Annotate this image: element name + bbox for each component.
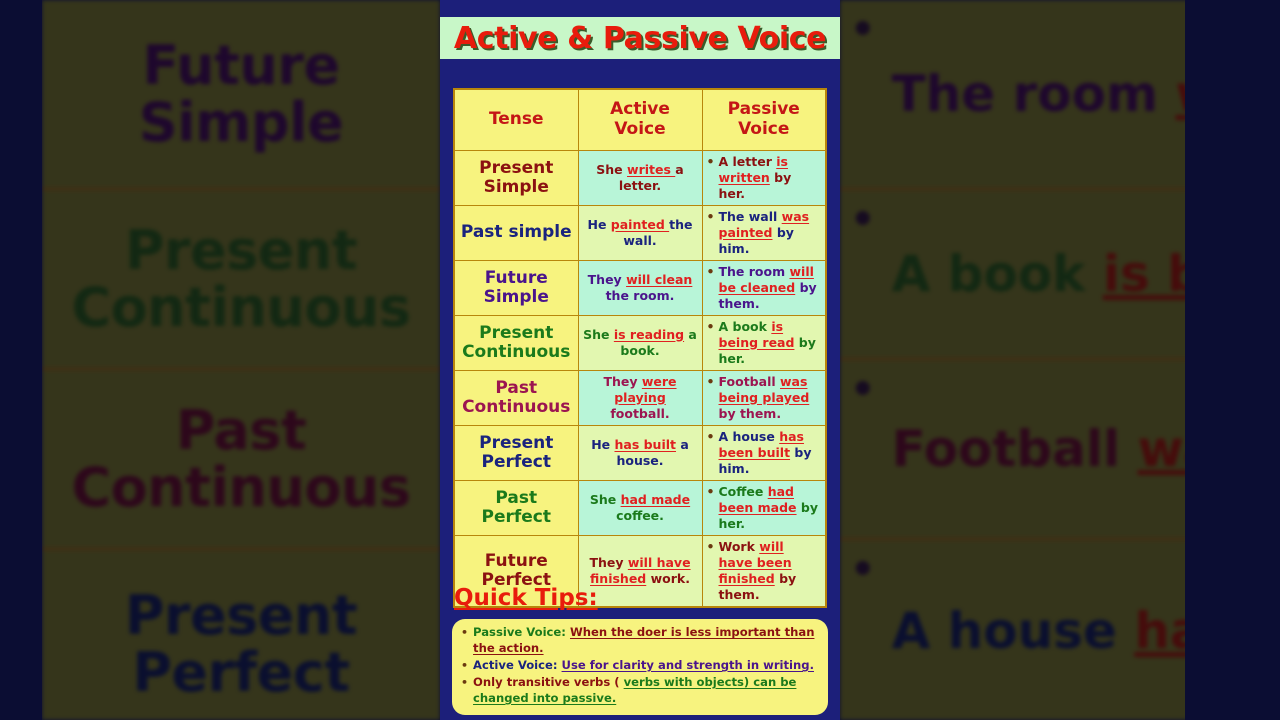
sentence-pre: Football [719, 374, 781, 389]
sentence-post: football. [610, 406, 669, 421]
table-row: Past ContinuousThey were playing footbal… [454, 370, 826, 425]
table-body: Present SimpleShe writes a letter.•A let… [454, 150, 826, 607]
quick-tip-text: Active Voice: Use for clarity and streng… [473, 658, 814, 674]
tense-cell: Past Continuous [454, 370, 578, 425]
tense-cell: Past simple [454, 205, 578, 260]
verb-phrase: will clean [626, 272, 692, 287]
bullet-icon: • [707, 429, 715, 477]
sentence-pre: A book [719, 319, 772, 334]
passive-voice-cell: •Coffee had been made by her. [702, 480, 826, 535]
quick-tip-label: Passive Voice: [473, 625, 566, 639]
sentence-pre: The room [892, 65, 1176, 123]
tense-cell: Present Continuous [454, 315, 578, 370]
passive-sentence: Football was being played by them. [719, 374, 822, 422]
bullet-icon: • [707, 154, 715, 202]
tense-cell: Present Perfect [454, 425, 578, 480]
passive-voice-cell: •The room will be cleaned by them. [702, 260, 826, 315]
background-tense-label: PresentContinuous [42, 190, 440, 370]
bullet-icon: • [707, 319, 715, 367]
passive-sentence: A house has been built by him. [719, 429, 822, 477]
right-edge-mask [1185, 0, 1280, 720]
verb-phrase: had made [621, 492, 691, 507]
active-voice-cell: She had made coffee. [578, 480, 702, 535]
bullet-icon: • [707, 539, 715, 603]
passive-sentence: The room will be cleaned by them. [719, 264, 822, 312]
sentence-pre: A house [892, 602, 1135, 660]
quick-tip-item: •Active Voice: Use for clarity and stren… [461, 658, 819, 674]
passive-sentence: A letter is written by her. [719, 154, 822, 202]
active-voice-cell: She is reading a book. [578, 315, 702, 370]
screenshot-root: FutureSimplePresentContinuousPastContinu… [0, 0, 1280, 720]
quick-tips-box: •Passive Voice: When the doer is less im… [452, 619, 828, 715]
page-title: Active & Passive Voice [454, 21, 826, 56]
table-row: Past PerfectShe had made coffee.•Coffee … [454, 480, 826, 535]
bullet-icon: • [850, 540, 876, 600]
verb-phrase: has built [614, 437, 676, 452]
bullet-icon: • [850, 0, 876, 60]
quick-tip-text: Passive Voice: When the doer is less imp… [473, 625, 819, 657]
sentence-pre: The wall [719, 209, 782, 224]
column-header-passive: Passive Voice [702, 89, 826, 150]
sentence-pre: She [596, 162, 627, 177]
passive-sentence: Work will have been finished by them. [719, 539, 822, 603]
bullet-icon: • [850, 190, 876, 250]
passive-sentence: The wall was painted by him. [719, 209, 822, 257]
active-voice-cell: They were playing football. [578, 370, 702, 425]
bullet-icon: • [707, 264, 715, 312]
background-word: Perfect [132, 644, 349, 701]
background-word: Past [176, 402, 307, 459]
passive-sentence: Coffee had been made by her. [719, 484, 822, 532]
table-row: Past simpleHe painted the wall.•The wall… [454, 205, 826, 260]
bullet-icon: • [707, 209, 715, 257]
tense-cell: Future Simple [454, 260, 578, 315]
sentence-post: the room. [606, 288, 675, 303]
background-word: Future [142, 37, 339, 94]
left-edge-mask [0, 0, 42, 720]
sentence-pre: A letter [719, 154, 777, 169]
passive-voice-cell: •The wall was painted by him. [702, 205, 826, 260]
verb-phrase: is reading [614, 327, 684, 342]
tense-cell: Past Perfect [454, 480, 578, 535]
verb-phrase: painted [611, 217, 669, 232]
passive-voice-cell: •Work will have been finished by them. [702, 535, 826, 607]
column-header-active: Active Voice [578, 89, 702, 150]
quick-tip-detail: Use for clarity and strength in writing. [562, 658, 814, 672]
background-word: Continuous [71, 279, 410, 336]
quick-tip-text: Only transitive verbs ( verbs with objec… [473, 675, 819, 707]
sentence-pre: Coffee [719, 484, 768, 499]
active-voice-cell: He has built a house. [578, 425, 702, 480]
sentence-pre: They [588, 272, 626, 287]
sentence-pre: Work [719, 539, 760, 554]
bullet-icon: • [850, 360, 876, 420]
sentence-post: work. [646, 571, 690, 586]
quick-tips-heading: Quick Tips: [454, 585, 598, 611]
bullet-icon: • [461, 625, 468, 657]
active-voice-cell: She writes a letter. [578, 150, 702, 205]
sentence-post: by them. [719, 406, 782, 421]
sentence-pre: He [591, 437, 614, 452]
passive-voice-cell: •A house has been built by him. [702, 425, 826, 480]
active-voice-cell: They will clean the room. [578, 260, 702, 315]
sentence-pre: A book [892, 245, 1103, 303]
main-card: Active & Passive Voice Tense Active Voic… [440, 0, 840, 720]
voice-table: Tense Active Voice Passive Voice Present… [453, 88, 827, 608]
passive-voice-cell: •A book is being read by her. [702, 315, 826, 370]
passive-sentence: A book is being read by her. [719, 319, 822, 367]
bullet-icon: • [461, 658, 468, 674]
table-header-row: Tense Active Voice Passive Voice [454, 89, 826, 150]
background-word: Present [125, 587, 357, 644]
background-tense-label: FutureSimple [42, 0, 440, 190]
sentence-pre: She [590, 492, 621, 507]
passive-voice-cell: •A letter is written by her. [702, 150, 826, 205]
background-word: Continuous [71, 459, 410, 516]
title-banner: Active & Passive Voice [440, 17, 840, 59]
sentence-pre: Football [892, 420, 1138, 478]
table-row: Present ContinuousShe is reading a book.… [454, 315, 826, 370]
background-tense-label: PresentPerfect [42, 550, 440, 720]
bullet-icon: • [707, 484, 715, 532]
sentence-pre: She [583, 327, 614, 342]
sentence-pre: They [589, 555, 627, 570]
active-voice-cell: He painted the wall. [578, 205, 702, 260]
table-row: Present SimpleShe writes a letter.•A let… [454, 150, 826, 205]
background-word: Present [125, 222, 357, 279]
background-tense-label: PastContinuous [42, 370, 440, 550]
background-left-panel: FutureSimplePresentContinuousPastContinu… [42, 0, 440, 720]
sentence-pre: They [603, 374, 641, 389]
bullet-icon: • [461, 675, 468, 707]
passive-voice-cell: •Football was being played by them. [702, 370, 826, 425]
column-header-tense: Tense [454, 89, 578, 150]
sentence-pre: The room [719, 264, 790, 279]
sentence-pre: He [588, 217, 611, 232]
quick-tip-item: •Passive Voice: When the doer is less im… [461, 625, 819, 657]
sentence-pre: A house [719, 429, 780, 444]
verb-phrase: writes [627, 162, 675, 177]
quick-tip-item: •Only transitive verbs ( verbs with obje… [461, 675, 819, 707]
quick-tip-label: Active Voice: [473, 658, 557, 672]
background-word: Simple [139, 94, 343, 151]
quick-tip-label: Only transitive verbs ( [473, 675, 620, 689]
bullet-icon: • [707, 374, 715, 422]
tense-cell: Present Simple [454, 150, 578, 205]
sentence-post: coffee. [616, 508, 664, 523]
table-row: Future SimpleThey will clean the room.•T… [454, 260, 826, 315]
table-row: Present PerfectHe has built a house.•A h… [454, 425, 826, 480]
